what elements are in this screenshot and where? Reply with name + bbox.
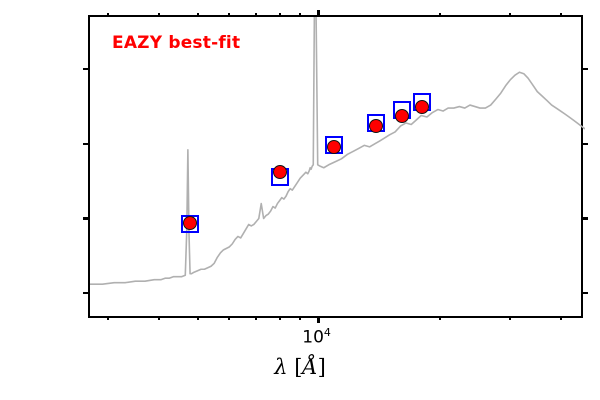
x-tick-minor-top [509, 13, 511, 17]
observed-photometry-point [273, 165, 287, 179]
y-tick-major [83, 68, 90, 70]
y-tick-major [83, 217, 90, 219]
x-tick-label: 104 [302, 326, 331, 348]
x-tick-minor-top [228, 13, 230, 17]
y-tick-major [83, 143, 90, 145]
x-tick-major [317, 316, 319, 323]
y-tick-major-right [581, 292, 588, 294]
x-tick-minor-top [299, 13, 301, 17]
plot-axes: EAZY best-fit [88, 15, 583, 318]
x-tick-minor [255, 316, 257, 320]
x-axis-title: λ [Å] [274, 355, 326, 379]
x-tick-minor-top [255, 13, 257, 17]
observed-photometry-point [395, 109, 409, 123]
y-tick-major-right [581, 217, 588, 219]
y-tick-major-right [581, 68, 588, 70]
spectrum-plot [90, 17, 585, 320]
x-tick-major-top [317, 10, 319, 17]
x-tick-minor [228, 316, 230, 320]
x-tick-minor [299, 316, 301, 320]
x-tick-minor-top [107, 13, 109, 17]
annotation-eazy-best-fit: EAZY best-fit [112, 33, 240, 53]
x-tick-minor [158, 316, 160, 320]
observed-photometry-point [183, 216, 197, 230]
y-tick-major [83, 292, 90, 294]
observed-photometry-point [369, 119, 383, 133]
x-tick-minor [279, 316, 281, 320]
x-tick-minor [509, 316, 511, 320]
x-tick-minor-top [560, 13, 562, 17]
x-tick-minor-top [197, 13, 199, 17]
x-tick-minor [197, 316, 199, 320]
x-tick-minor [560, 316, 562, 320]
y-tick-major-right [581, 143, 588, 145]
x-tick-minor-top [279, 13, 281, 17]
x-tick-minor-top [158, 13, 160, 17]
x-tick-minor [439, 316, 441, 320]
observed-photometry-point [415, 100, 429, 114]
observed-photometry-point [327, 140, 341, 154]
x-tick-minor [107, 316, 109, 320]
x-tick-minor-top [439, 13, 441, 17]
figure-canvas: fν [arbitrarily scaled] λ [Å] EAZY best-… [0, 0, 600, 400]
